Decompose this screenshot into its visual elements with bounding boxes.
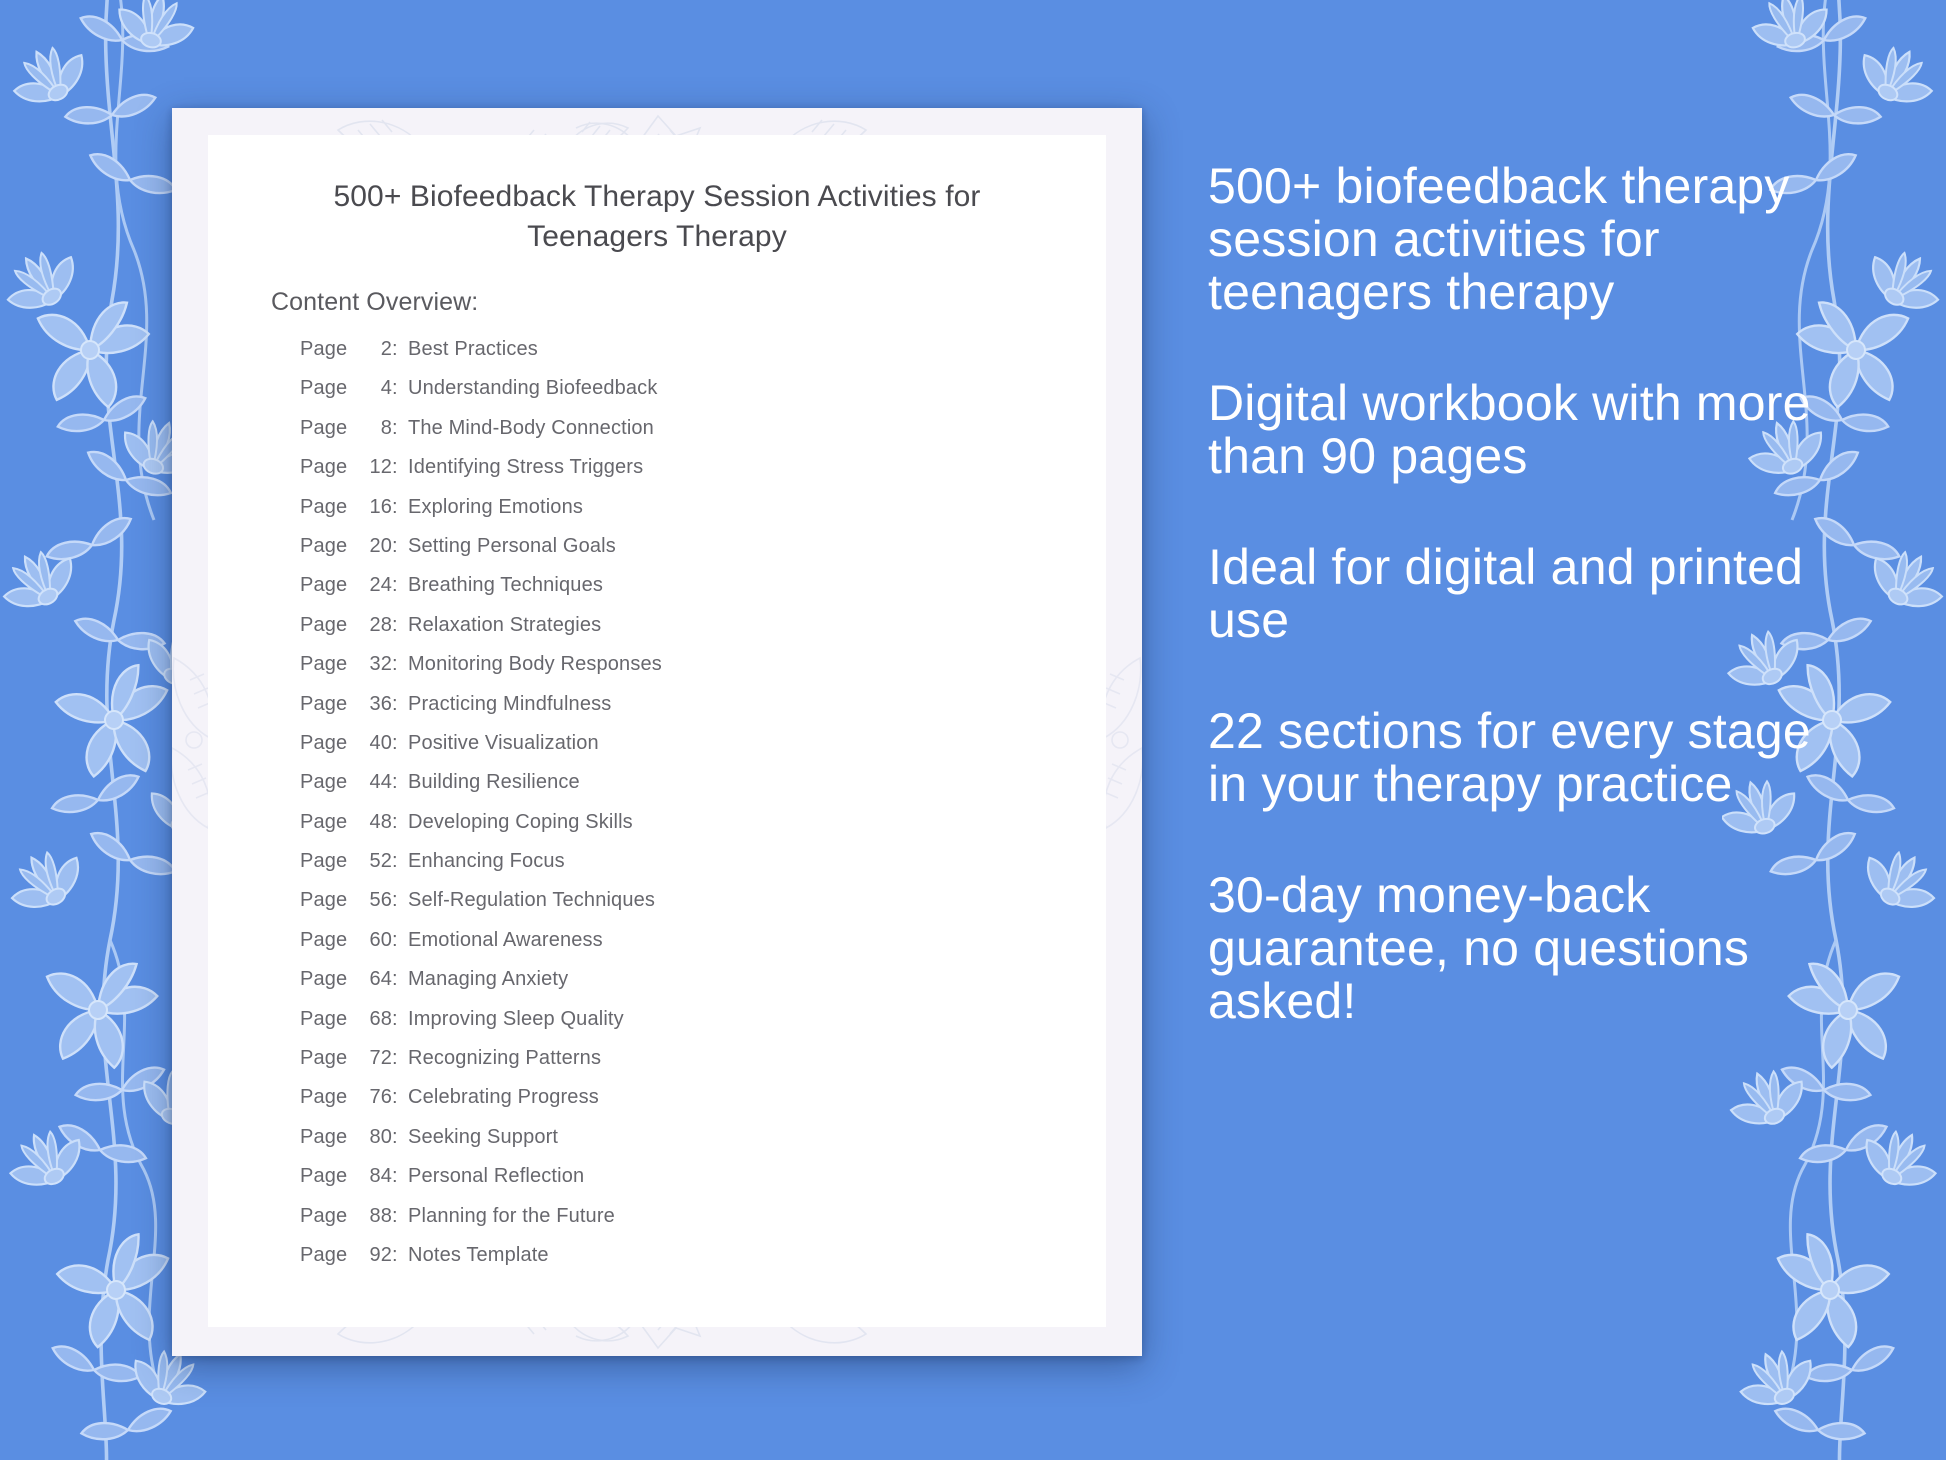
toc-page-word: Page — [300, 1008, 358, 1031]
toc-page-word: Page — [300, 338, 358, 361]
toc-section-title: Building Resilience — [408, 771, 580, 794]
toc-section-title: The Mind-Body Connection — [408, 417, 654, 440]
toc-colon: : — [392, 968, 408, 991]
toc-page-word: Page — [300, 929, 358, 952]
toc-page-number: 72 — [358, 1047, 392, 1070]
toc-section-title: Identifying Stress Triggers — [408, 456, 643, 479]
toc-colon: : — [392, 929, 408, 952]
toc-entry[interactable]: Page12:Identifying Stress Triggers — [300, 456, 1060, 495]
toc-entry[interactable]: Page60:Emotional Awareness — [300, 929, 1060, 968]
toc-page-number: 28 — [358, 614, 392, 637]
toc-colon: : — [392, 811, 408, 834]
toc-page-word: Page — [300, 377, 358, 400]
table-of-contents-list: Page2:Best PracticesPage4:Understanding … — [300, 338, 1060, 1283]
toc-page-word: Page — [300, 535, 358, 558]
toc-colon: : — [392, 1008, 408, 1031]
toc-entry[interactable]: Page52:Enhancing Focus — [300, 850, 1060, 889]
toc-page-word: Page — [300, 811, 358, 834]
toc-entry[interactable]: Page80:Seeking Support — [300, 1126, 1060, 1165]
toc-page-word: Page — [300, 1165, 358, 1188]
toc-colon: : — [392, 535, 408, 558]
toc-entry[interactable]: Page92:Notes Template — [300, 1244, 1060, 1283]
marketing-bullet: Digital workbook with more than 90 pages — [1208, 377, 1828, 483]
toc-colon: : — [392, 614, 408, 637]
toc-section-title: Developing Coping Skills — [408, 811, 633, 834]
toc-page-word: Page — [300, 889, 358, 912]
toc-page-number: 12 — [358, 456, 392, 479]
document-preview-card[interactable]: 500+ Biofeedback Therapy Session Activit… — [172, 108, 1142, 1356]
marketing-bullet: 500+ biofeedback therapy session activit… — [1208, 160, 1828, 319]
toc-page-word: Page — [300, 693, 358, 716]
toc-colon: : — [392, 1165, 408, 1188]
toc-page-number: 48 — [358, 811, 392, 834]
toc-entry[interactable]: Page2:Best Practices — [300, 338, 1060, 377]
toc-colon: : — [392, 1126, 408, 1149]
toc-colon: : — [392, 456, 408, 479]
toc-page-word: Page — [300, 850, 358, 873]
toc-entry[interactable]: Page40:Positive Visualization — [300, 732, 1060, 771]
toc-colon: : — [392, 377, 408, 400]
toc-entry[interactable]: Page68:Improving Sleep Quality — [300, 1008, 1060, 1047]
toc-entry[interactable]: Page8:The Mind-Body Connection — [300, 417, 1060, 456]
toc-section-title: Seeking Support — [408, 1126, 558, 1149]
toc-page-word: Page — [300, 653, 358, 676]
document-page-sheet: 500+ Biofeedback Therapy Session Activit… — [208, 135, 1106, 1327]
toc-page-number: 24 — [358, 574, 392, 597]
marketing-text-column: 500+ biofeedback therapy session activit… — [1208, 160, 1828, 1028]
toc-page-number: 16 — [358, 496, 392, 519]
page-title: 500+ Biofeedback Therapy Session Activit… — [280, 177, 1034, 256]
toc-page-word: Page — [300, 496, 358, 519]
marketing-bullet: Ideal for digital and printed use — [1208, 541, 1828, 647]
toc-colon: : — [392, 771, 408, 794]
toc-section-title: Planning for the Future — [408, 1205, 615, 1228]
toc-colon: : — [392, 496, 408, 519]
toc-colon: : — [392, 1244, 408, 1267]
marketing-bullet: 22 sections for every stage in your ther… — [1208, 705, 1828, 811]
toc-page-number: 80 — [358, 1126, 392, 1149]
toc-section-title: Positive Visualization — [408, 732, 599, 755]
toc-colon: : — [392, 417, 408, 440]
toc-section-title: Self-Regulation Techniques — [408, 889, 655, 912]
toc-entry[interactable]: Page48:Developing Coping Skills — [300, 811, 1060, 850]
toc-entry[interactable]: Page44:Building Resilience — [300, 771, 1060, 810]
toc-page-word: Page — [300, 417, 358, 440]
toc-section-title: Setting Personal Goals — [408, 535, 616, 558]
toc-page-number: 2 — [358, 338, 392, 361]
toc-page-number: 64 — [358, 968, 392, 991]
toc-entry[interactable]: Page88:Planning for the Future — [300, 1205, 1060, 1244]
toc-page-number: 88 — [358, 1205, 392, 1228]
toc-section-title: Improving Sleep Quality — [408, 1008, 624, 1031]
toc-entry[interactable]: Page72:Recognizing Patterns — [300, 1047, 1060, 1086]
toc-page-word: Page — [300, 1205, 358, 1228]
toc-page-number: 44 — [358, 771, 392, 794]
toc-section-title: Monitoring Body Responses — [408, 653, 662, 676]
toc-page-word: Page — [300, 968, 358, 991]
toc-colon: : — [392, 732, 408, 755]
toc-page-number: 8 — [358, 417, 392, 440]
toc-section-title: Celebrating Progress — [408, 1086, 599, 1109]
toc-entry[interactable]: Page84:Personal Reflection — [300, 1165, 1060, 1204]
toc-page-word: Page — [300, 1047, 358, 1070]
toc-page-number: 32 — [358, 653, 392, 676]
toc-colon: : — [392, 653, 408, 676]
toc-section-title: Breathing Techniques — [408, 574, 603, 597]
toc-entry[interactable]: Page56:Self-Regulation Techniques — [300, 889, 1060, 928]
toc-page-number: 40 — [358, 732, 392, 755]
toc-page-number: 20 — [358, 535, 392, 558]
toc-section-title: Relaxation Strategies — [408, 614, 601, 637]
toc-entry[interactable]: Page20:Setting Personal Goals — [300, 535, 1060, 574]
toc-page-number: 68 — [358, 1008, 392, 1031]
toc-entry[interactable]: Page36:Practicing Mindfulness — [300, 693, 1060, 732]
toc-page-word: Page — [300, 732, 358, 755]
toc-page-word: Page — [300, 1244, 358, 1267]
toc-entry[interactable]: Page32:Monitoring Body Responses — [300, 653, 1060, 692]
toc-entry[interactable]: Page24:Breathing Techniques — [300, 574, 1060, 613]
toc-section-title: Managing Anxiety — [408, 968, 568, 991]
toc-colon: : — [392, 338, 408, 361]
toc-section-title: Recognizing Patterns — [408, 1047, 601, 1070]
toc-section-title: Notes Template — [408, 1244, 549, 1267]
toc-colon: : — [392, 1047, 408, 1070]
toc-page-word: Page — [300, 614, 358, 637]
toc-colon: : — [392, 850, 408, 873]
toc-page-word: Page — [300, 1086, 358, 1109]
toc-section-title: Best Practices — [408, 338, 538, 361]
toc-colon: : — [392, 1205, 408, 1228]
toc-page-number: 52 — [358, 850, 392, 873]
marketing-bullet: 30-day money-back guarantee, no question… — [1208, 869, 1828, 1028]
toc-section-title: Enhancing Focus — [408, 850, 565, 873]
toc-section-title: Personal Reflection — [408, 1165, 584, 1188]
toc-section-title: Understanding Biofeedback — [408, 377, 657, 400]
toc-page-number: 4 — [358, 377, 392, 400]
content-overview-heading: Content Overview: — [271, 288, 478, 317]
toc-entry[interactable]: Page76:Celebrating Progress — [300, 1086, 1060, 1125]
toc-page-word: Page — [300, 771, 358, 794]
toc-entry[interactable]: Page64:Managing Anxiety — [300, 968, 1060, 1007]
toc-colon: : — [392, 1086, 408, 1109]
toc-colon: : — [392, 574, 408, 597]
toc-section-title: Exploring Emotions — [408, 496, 583, 519]
toc-colon: : — [392, 889, 408, 912]
toc-page-number: 84 — [358, 1165, 392, 1188]
toc-section-title: Practicing Mindfulness — [408, 693, 611, 716]
toc-page-word: Page — [300, 1126, 358, 1149]
toc-page-number: 36 — [358, 693, 392, 716]
toc-page-number: 76 — [358, 1086, 392, 1109]
toc-section-title: Emotional Awareness — [408, 929, 603, 952]
toc-colon: : — [392, 693, 408, 716]
toc-page-number: 92 — [358, 1244, 392, 1267]
toc-page-word: Page — [300, 574, 358, 597]
toc-page-number: 60 — [358, 929, 392, 952]
toc-page-number: 56 — [358, 889, 392, 912]
toc-entry[interactable]: Page4:Understanding Biofeedback — [300, 377, 1060, 416]
toc-page-word: Page — [300, 456, 358, 479]
toc-entry[interactable]: Page16:Exploring Emotions — [300, 496, 1060, 535]
toc-entry[interactable]: Page28:Relaxation Strategies — [300, 614, 1060, 653]
